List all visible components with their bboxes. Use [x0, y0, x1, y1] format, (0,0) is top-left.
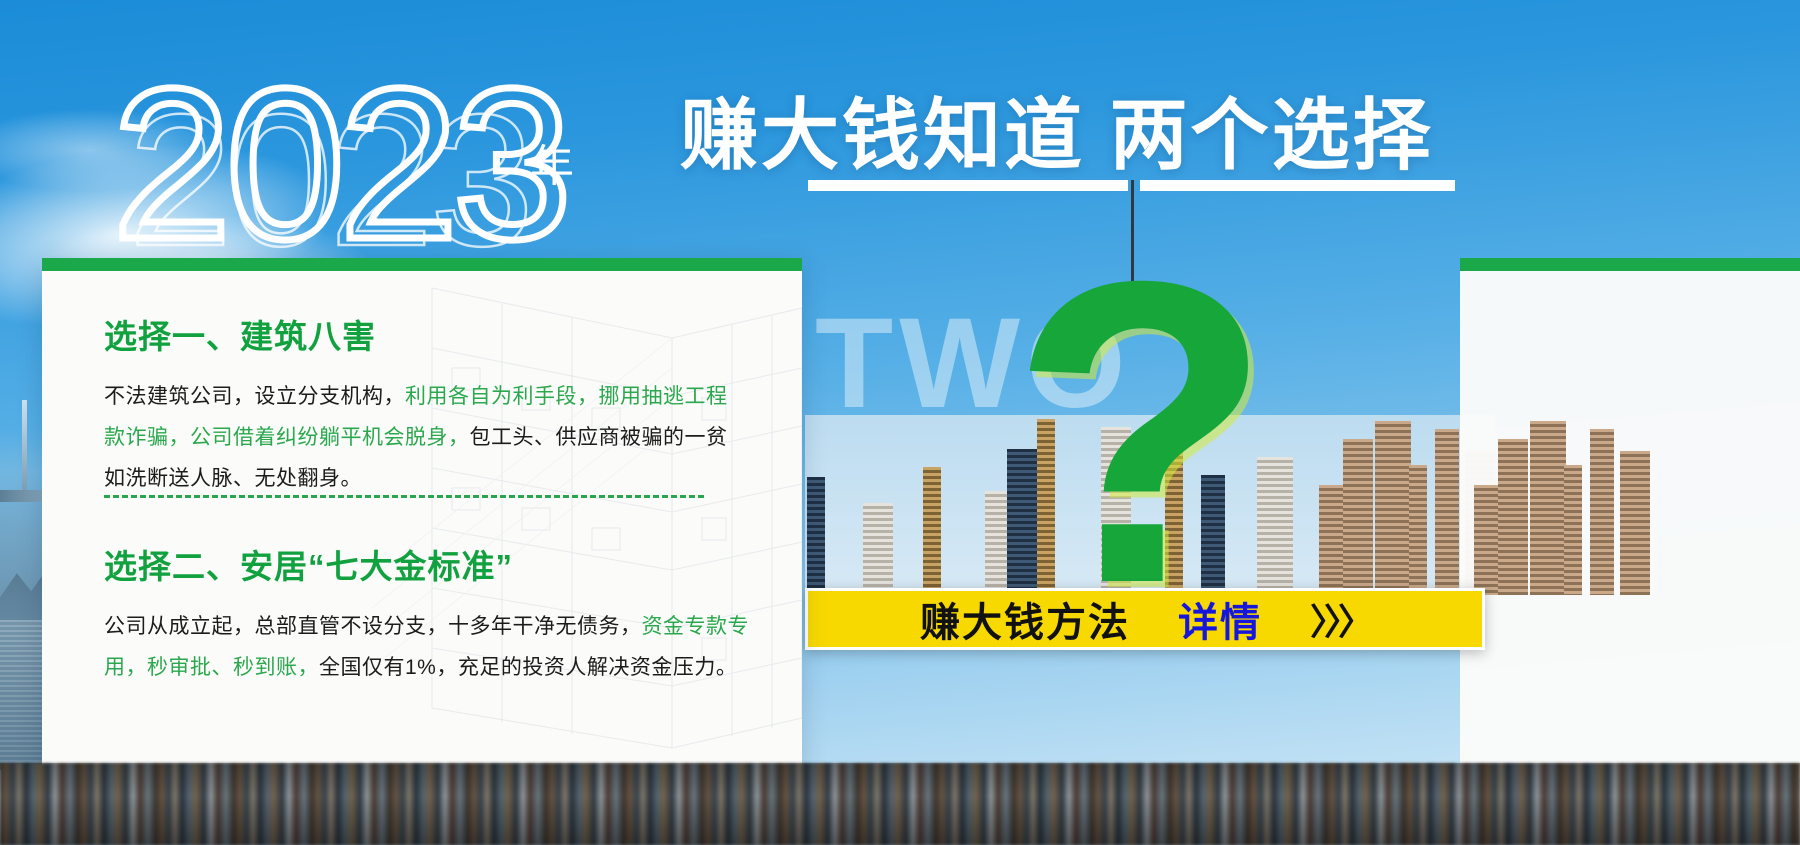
section-one: 选择一、建筑八害 不法建筑公司，设立分支机构，利用各自为利手段，挪用抽逃工程款诈… — [104, 310, 744, 499]
poster-root: 2023 2023 年 赚大钱知道 两个选择 TWO CHOICES ? 赚大钱… — [0, 0, 1800, 845]
page-title: 赚大钱知道 两个选择 — [680, 73, 1434, 185]
building-silhouette — [923, 467, 941, 595]
section-one-title: 选择一、建筑八害 — [104, 310, 744, 358]
para-run-plain: 不法建筑公司，设立分支机构， — [104, 385, 405, 408]
section-divider — [104, 495, 704, 498]
bottom-strip-shadow — [0, 763, 1800, 845]
building-silhouette — [1590, 429, 1614, 595]
para-run-plain: 公司从成立起，总部直管不设分支，十多年干净无债务， — [104, 615, 642, 638]
section-two: 选择二、安居“七大金标准” 公司从成立起，总部直管不设分支，十多年干净无债务，资… — [104, 540, 764, 688]
cta-main-label: 赚大钱方法 — [920, 590, 1130, 648]
cta-detail-link[interactable]: 详情 — [1178, 590, 1262, 648]
year-outline-text: 2023 — [112, 64, 732, 264]
building-silhouette — [1474, 485, 1498, 595]
building-silhouette — [1435, 429, 1459, 595]
content-card: 选择一、建筑八害 不法建筑公司，设立分支机构，利用各自为利手段，挪用抽逃工程款诈… — [42, 258, 802, 778]
building-silhouette — [1343, 439, 1373, 595]
headline-rule-left — [808, 180, 1128, 191]
building-silhouette — [1375, 421, 1411, 595]
right-green-bar — [1460, 258, 1800, 271]
year-inner-outline-text: 2023 — [128, 80, 530, 280]
building-silhouette — [1564, 465, 1582, 595]
building-silhouette — [889, 435, 925, 595]
building-silhouette — [1285, 423, 1303, 595]
question-mark-graphic: ? — [1010, 218, 1273, 648]
section-two-title: 选择二、安居“七大金标准” — [104, 540, 764, 588]
building-silhouette — [951, 425, 975, 595]
headline-rule-right — [1140, 180, 1455, 191]
card-top-green-bar — [42, 258, 802, 271]
building-silhouette — [807, 477, 825, 595]
para-run-plain: 全国仅有1%，充足的投资人解决资金压力。 — [319, 656, 737, 679]
building-silhouette — [1620, 451, 1650, 595]
section-two-paragraph: 公司从成立起，总部直管不设分支，十多年干净无债务，资金专款专用，秒审批、秒到账，… — [104, 606, 764, 688]
chevron-right-icon: 〉〉〉 — [1310, 593, 1370, 645]
building-silhouette — [831, 445, 855, 595]
building-silhouette — [1319, 485, 1343, 595]
right-city-photo — [1460, 415, 1800, 595]
bridge-pylon — [22, 400, 27, 495]
cta-banner[interactable]: 赚大钱方法 详情 〉〉〉 — [805, 588, 1485, 650]
cloud-decoration — [0, 110, 220, 190]
section-one-paragraph: 不法建筑公司，设立分支机构，利用各自为利手段，挪用抽逃工程款诈骗，公司借着纠纷躺… — [104, 376, 744, 499]
building-silhouette — [1409, 465, 1427, 595]
year-suffix-label: 年 — [530, 130, 576, 194]
building-silhouette — [1530, 421, 1566, 595]
year-numerals: 2023 2023 — [112, 64, 732, 264]
building-silhouette — [1498, 439, 1528, 595]
